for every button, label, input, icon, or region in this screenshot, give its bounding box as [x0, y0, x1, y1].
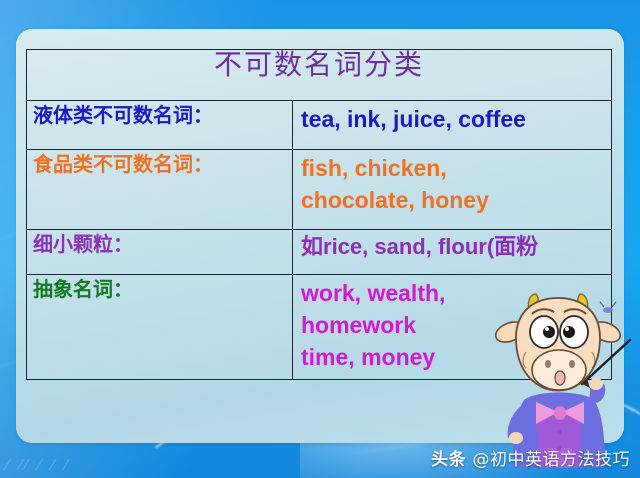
examples-abstract-line-3: time, money — [293, 339, 611, 371]
noun-classification-table: 不可数名词分类 液体类不可数名词： tea, ink, juice, coffe… — [26, 49, 612, 380]
examples-liquid: tea, ink, juice, coffee — [293, 101, 611, 133]
table-row: 细小颗粒： 如rice, sand, flour(面粉 — [27, 230, 612, 275]
examples-cell-abstract: work, wealth, homework time, money — [293, 275, 612, 380]
examples-cell-liquid: tea, ink, juice, coffee — [293, 101, 612, 150]
slide-canvas: 不可数名词分类 液体类不可数名词： tea, ink, juice, coffe… — [0, 0, 640, 478]
category-label-food: 食品类不可数名词： — [27, 150, 292, 175]
category-label-grain: 细小颗粒： — [27, 230, 292, 255]
examples-grain-main: rice, sand, flour( — [323, 234, 494, 259]
table-row: 液体类不可数名词： tea, ink, juice, coffee — [27, 101, 612, 150]
noun-classification-table-wrapper: 不可数名词分类 液体类不可数名词： tea, ink, juice, coffe… — [26, 49, 612, 378]
examples-cell-grain: 如rice, sand, flour(面粉 — [293, 230, 612, 275]
examples-food-line-1: fish, chicken, — [293, 150, 611, 182]
examples-grain-suffix: 面粉 — [494, 235, 538, 260]
examples-grain: 如rice, sand, flour(面粉 — [293, 230, 611, 262]
category-cell-abstract: 抽象名词： — [27, 275, 293, 380]
page-title: 不可数名词分类 — [214, 50, 424, 82]
category-cell-grain: 细小颗粒： — [27, 230, 293, 275]
examples-food-line-2: chocolate, honey — [293, 182, 611, 214]
faint-watermark: ⁄ ⁄⁄ ⁄ ⁄ ⁄ — [6, 456, 70, 474]
examples-cell-food: fish, chicken, chocolate, honey — [293, 150, 612, 230]
table-row: 抽象名词： work, wealth, homework time, money — [27, 275, 612, 380]
examples-grain-prefix: 如 — [301, 235, 323, 260]
examples-abstract-line-1: work, wealth, — [293, 275, 611, 307]
table-row: 食品类不可数名词： fish, chicken, chocolate, hone… — [27, 150, 612, 230]
category-cell-food: 食品类不可数名词： — [27, 150, 293, 230]
watermark-brand: 头条 — [431, 450, 466, 470]
examples-abstract-line-2: homework — [293, 307, 611, 339]
category-label-liquid: 液体类不可数名词： — [27, 101, 292, 126]
watermark-handle: @初中英语方法技巧 — [473, 450, 631, 470]
table-title-cell: 不可数名词分类 — [27, 50, 612, 101]
category-cell-liquid: 液体类不可数名词： — [27, 101, 293, 150]
category-label-abstract: 抽象名词： — [27, 275, 292, 300]
watermark: 头条 @初中英语方法技巧 — [431, 445, 630, 470]
table-title-row: 不可数名词分类 — [27, 50, 612, 101]
